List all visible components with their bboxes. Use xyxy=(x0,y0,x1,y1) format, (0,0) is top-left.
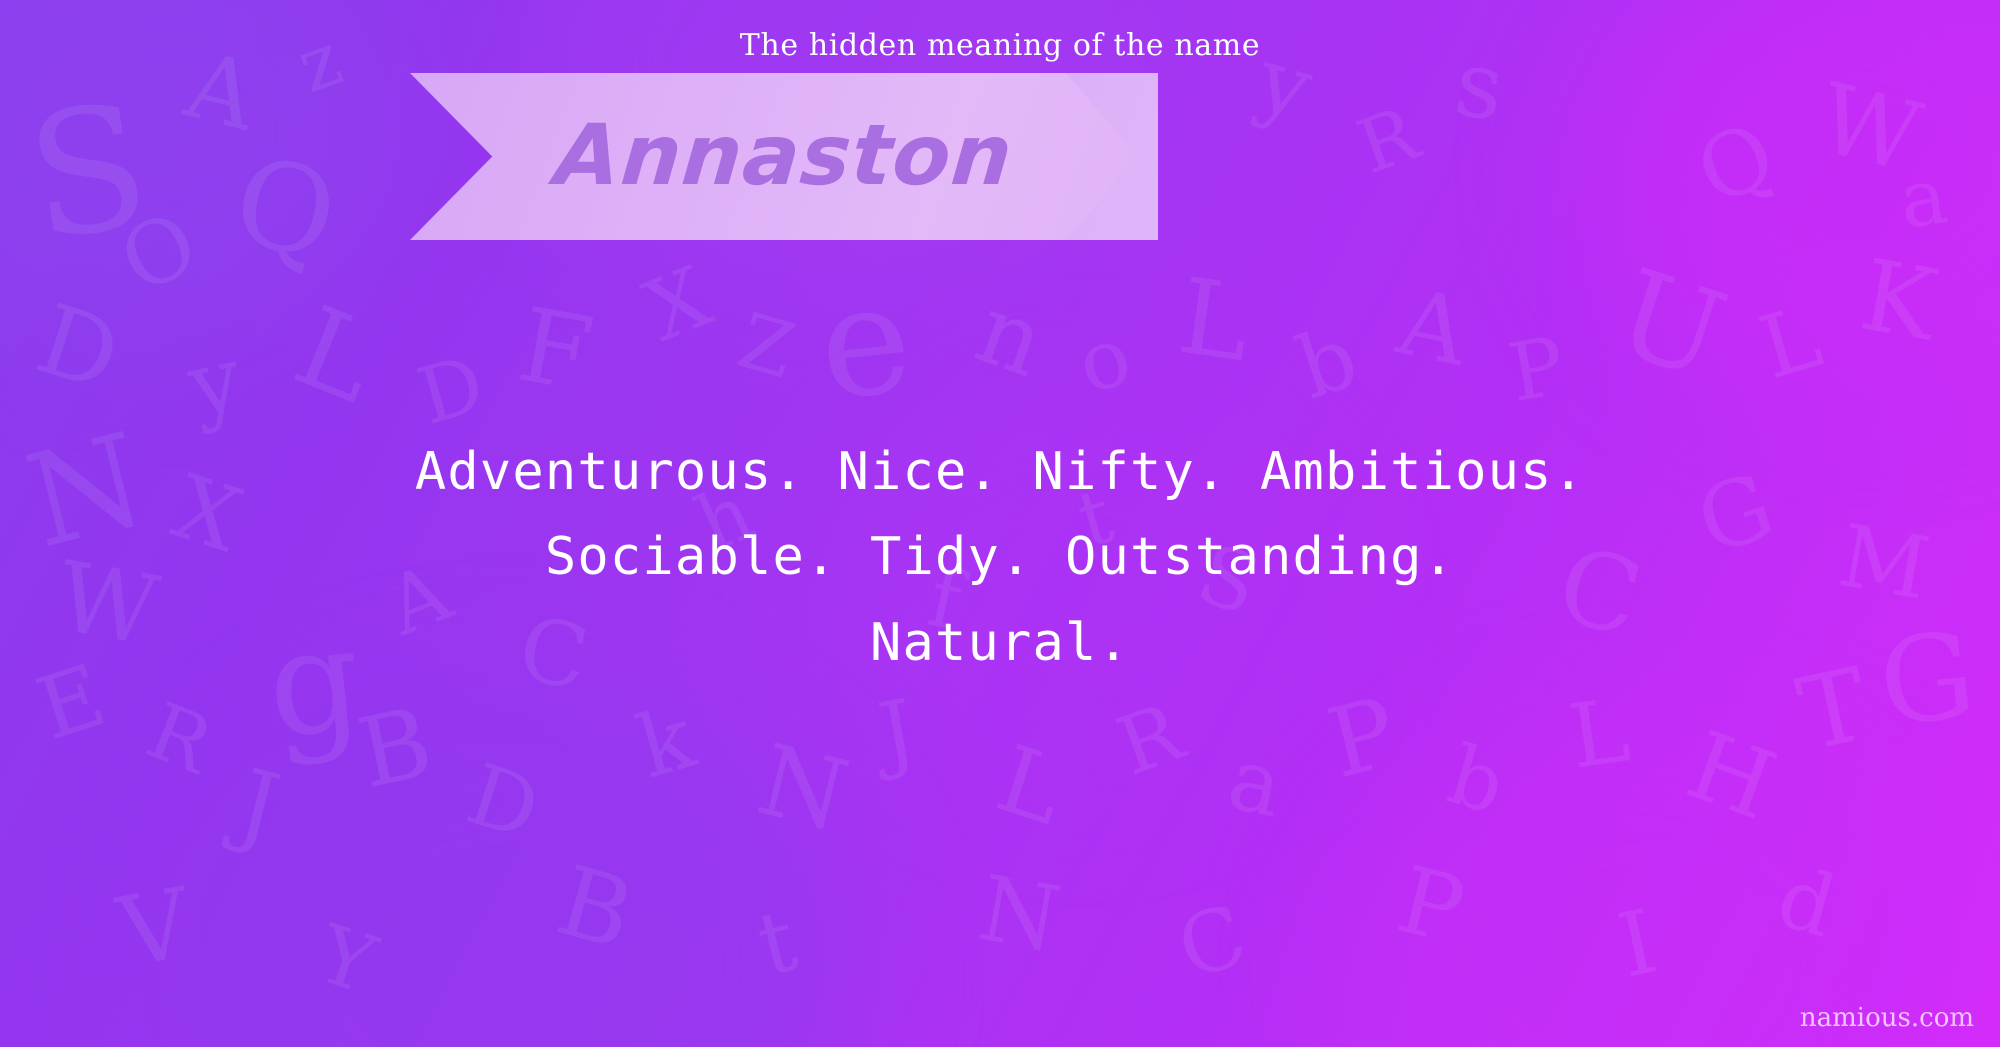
page-title: The hidden meaning of the name xyxy=(0,28,2000,63)
name-ribbon: Annaston xyxy=(410,73,1158,240)
meaning-text: Adventurous. Nice. Nifty. Ambitious. Soc… xyxy=(120,430,1880,686)
name-meaning-graphic: S A z Q O D y L D F X Z e n o L b A P U … xyxy=(0,0,2000,1047)
site-watermark: namious.com xyxy=(1800,1003,1974,1033)
meaning-line-2: Sociable. Tidy. Outstanding. xyxy=(120,515,1880,600)
meaning-line-1: Adventurous. Nice. Nifty. Ambitious. xyxy=(120,430,1880,515)
name-text: Annaston xyxy=(403,73,1166,240)
meaning-line-3: Natural. xyxy=(120,601,1880,686)
